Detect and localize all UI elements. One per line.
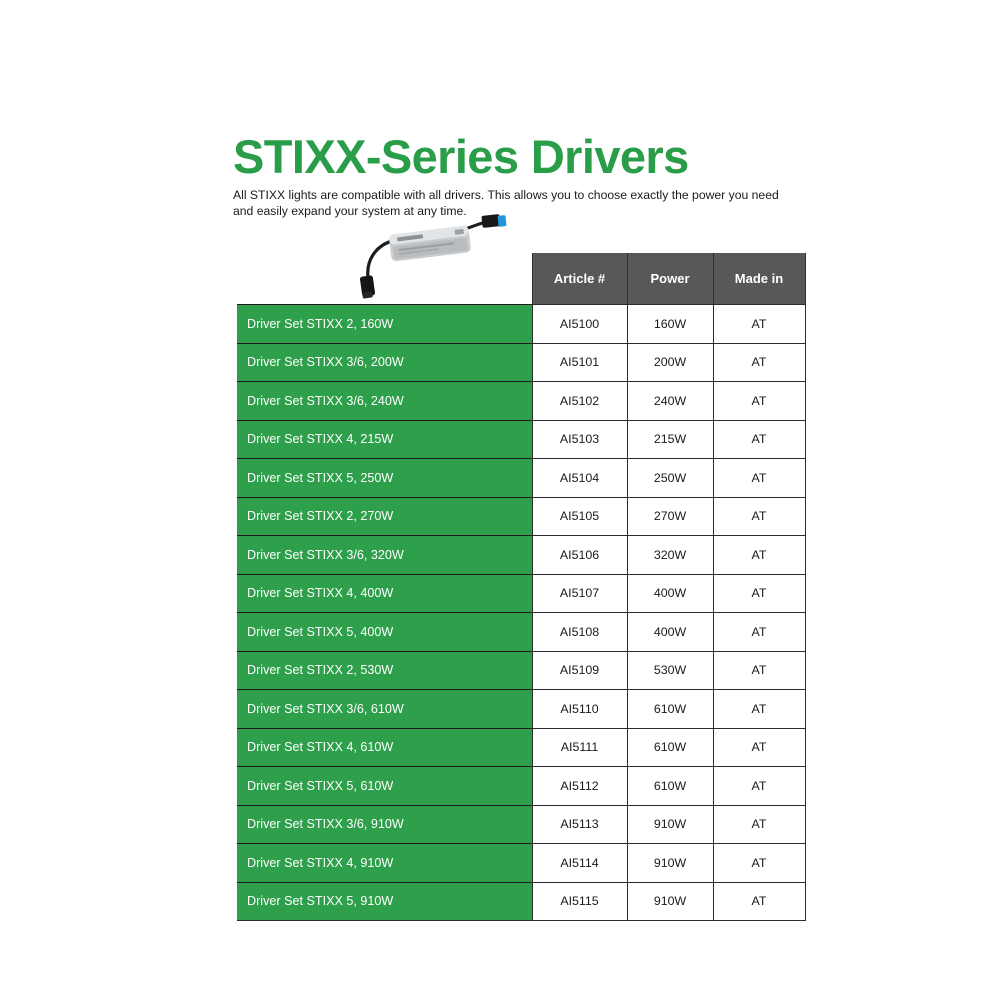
table-row: Driver Set STIXX 4, 215WAI5103215WAT [237,420,805,459]
table-row: Driver Set STIXX 3/6, 200WAI5101200WAT [237,343,805,382]
page-root: STIXX-Series Drivers All STIXX lights ar… [0,0,1000,1000]
cell-driver-name: Driver Set STIXX 4, 400W [237,574,532,613]
table-row: Driver Set STIXX 2, 530WAI5109530WAT [237,651,805,690]
cell-power: 250W [627,459,713,498]
cell-made-in: AT [713,343,805,382]
cell-made-in: AT [713,459,805,498]
page-title: STIXX-Series Drivers [233,133,973,180]
cell-driver-name: Driver Set STIXX 3/6, 320W [237,536,532,575]
cell-made-in: AT [713,574,805,613]
cell-made-in: AT [713,767,805,806]
table-row: Driver Set STIXX 4, 610WAI5111610WAT [237,728,805,767]
cell-driver-name: Driver Set STIXX 2, 530W [237,651,532,690]
cell-article: AI5108 [532,613,627,652]
cell-made-in: AT [713,613,805,652]
cell-driver-name: Driver Set STIXX 3/6, 240W [237,382,532,421]
cell-article: AI5113 [532,805,627,844]
cell-driver-name: Driver Set STIXX 2, 270W [237,497,532,536]
table-row: Driver Set STIXX 3/6, 610WAI5110610WAT [237,690,805,729]
cell-made-in: AT [713,728,805,767]
cell-power: 610W [627,728,713,767]
cell-article: AI5100 [532,305,627,344]
cell-power: 910W [627,882,713,921]
cell-article: AI5104 [532,459,627,498]
cell-article: AI5115 [532,882,627,921]
cell-made-in: AT [713,536,805,575]
cell-article: AI5103 [532,420,627,459]
cell-driver-name: Driver Set STIXX 4, 215W [237,420,532,459]
cell-article: AI5110 [532,690,627,729]
cell-made-in: AT [713,882,805,921]
cell-power: 400W [627,574,713,613]
cell-power: 200W [627,343,713,382]
table-row: Driver Set STIXX 4, 400WAI5107400WAT [237,574,805,613]
cell-power: 400W [627,613,713,652]
cell-power: 270W [627,497,713,536]
cell-driver-name: Driver Set STIXX 3/6, 610W [237,690,532,729]
table-body: Driver Set STIXX 2, 160WAI5100160WATDriv… [237,305,805,921]
cell-driver-name: Driver Set STIXX 3/6, 200W [237,343,532,382]
table-row: Driver Set STIXX 5, 610WAI5112610WAT [237,767,805,806]
table-header: Article # Power Made in [237,253,805,305]
cell-made-in: AT [713,497,805,536]
table-row: Driver Set STIXX 2, 160WAI5100160WAT [237,305,805,344]
column-header-name [237,253,532,305]
cell-made-in: AT [713,844,805,883]
column-header-power: Power [627,253,713,305]
cell-power: 530W [627,651,713,690]
cell-made-in: AT [713,305,805,344]
cell-made-in: AT [713,651,805,690]
cell-article: AI5112 [532,767,627,806]
table-row: Driver Set STIXX 5, 400WAI5108400WAT [237,613,805,652]
cell-power: 215W [627,420,713,459]
cell-power: 610W [627,690,713,729]
cell-power: 320W [627,536,713,575]
cell-power: 160W [627,305,713,344]
table-header-row: Article # Power Made in [237,253,805,305]
column-header-article: Article # [532,253,627,305]
table-row: Driver Set STIXX 2, 270WAI5105270WAT [237,497,805,536]
cell-article: AI5102 [532,382,627,421]
cell-article: AI5114 [532,844,627,883]
drivers-spec-table: Article # Power Made in Driver Set STIXX… [237,253,806,921]
cell-article: AI5105 [532,497,627,536]
cell-article: AI5106 [532,536,627,575]
table-row: Driver Set STIXX 3/6, 910WAI5113910WAT [237,805,805,844]
cell-article: AI5107 [532,574,627,613]
cell-power: 910W [627,844,713,883]
column-header-made-in: Made in [713,253,805,305]
cell-power: 910W [627,805,713,844]
cell-driver-name: Driver Set STIXX 5, 400W [237,613,532,652]
cell-driver-name: Driver Set STIXX 3/6, 910W [237,805,532,844]
cell-article: AI5101 [532,343,627,382]
table-row: Driver Set STIXX 3/6, 240WAI5102240WAT [237,382,805,421]
table-row: Driver Set STIXX 4, 910WAI5114910WAT [237,844,805,883]
cell-article: AI5111 [532,728,627,767]
cell-driver-name: Driver Set STIXX 5, 910W [237,882,532,921]
table-row: Driver Set STIXX 3/6, 320WAI5106320WAT [237,536,805,575]
table-row: Driver Set STIXX 5, 910WAI5115910WAT [237,882,805,921]
cell-driver-name: Driver Set STIXX 5, 250W [237,459,532,498]
cell-made-in: AT [713,690,805,729]
cell-made-in: AT [713,382,805,421]
cell-made-in: AT [713,805,805,844]
cell-power: 240W [627,382,713,421]
cell-made-in: AT [713,420,805,459]
cell-driver-name: Driver Set STIXX 4, 610W [237,728,532,767]
cell-driver-name: Driver Set STIXX 5, 610W [237,767,532,806]
cell-driver-name: Driver Set STIXX 4, 910W [237,844,532,883]
cell-power: 610W [627,767,713,806]
table-row: Driver Set STIXX 5, 250WAI5104250WAT [237,459,805,498]
cell-driver-name: Driver Set STIXX 2, 160W [237,305,532,344]
cell-article: AI5109 [532,651,627,690]
